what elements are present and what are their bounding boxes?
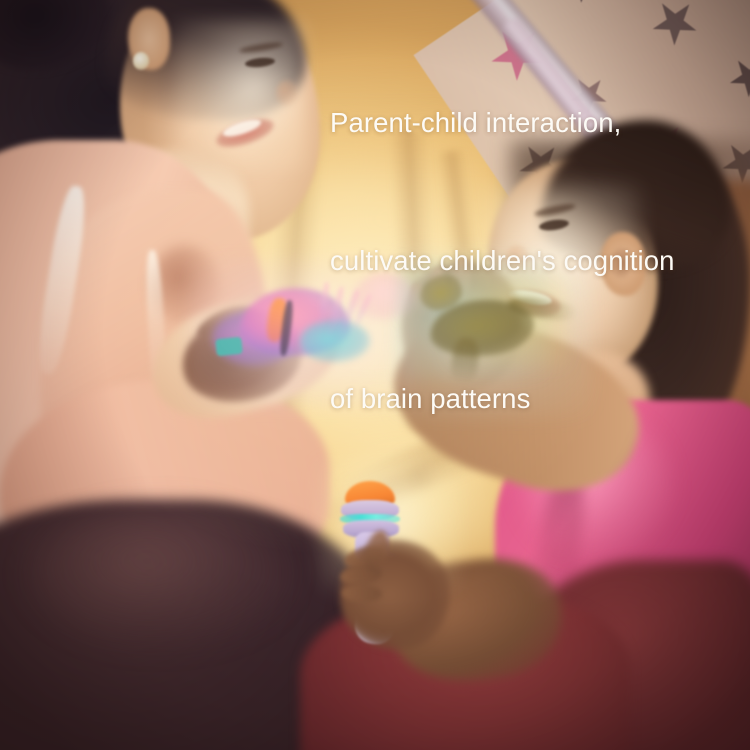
mother-lap-highlight — [30, 505, 290, 645]
mother-earring — [133, 52, 149, 70]
child-ear-inner — [610, 248, 632, 278]
projector-toy-teal-switch — [215, 337, 243, 357]
product-marketing-image: Parent-child interaction, cultivate chil… — [0, 0, 750, 750]
mother-nose — [276, 80, 298, 106]
